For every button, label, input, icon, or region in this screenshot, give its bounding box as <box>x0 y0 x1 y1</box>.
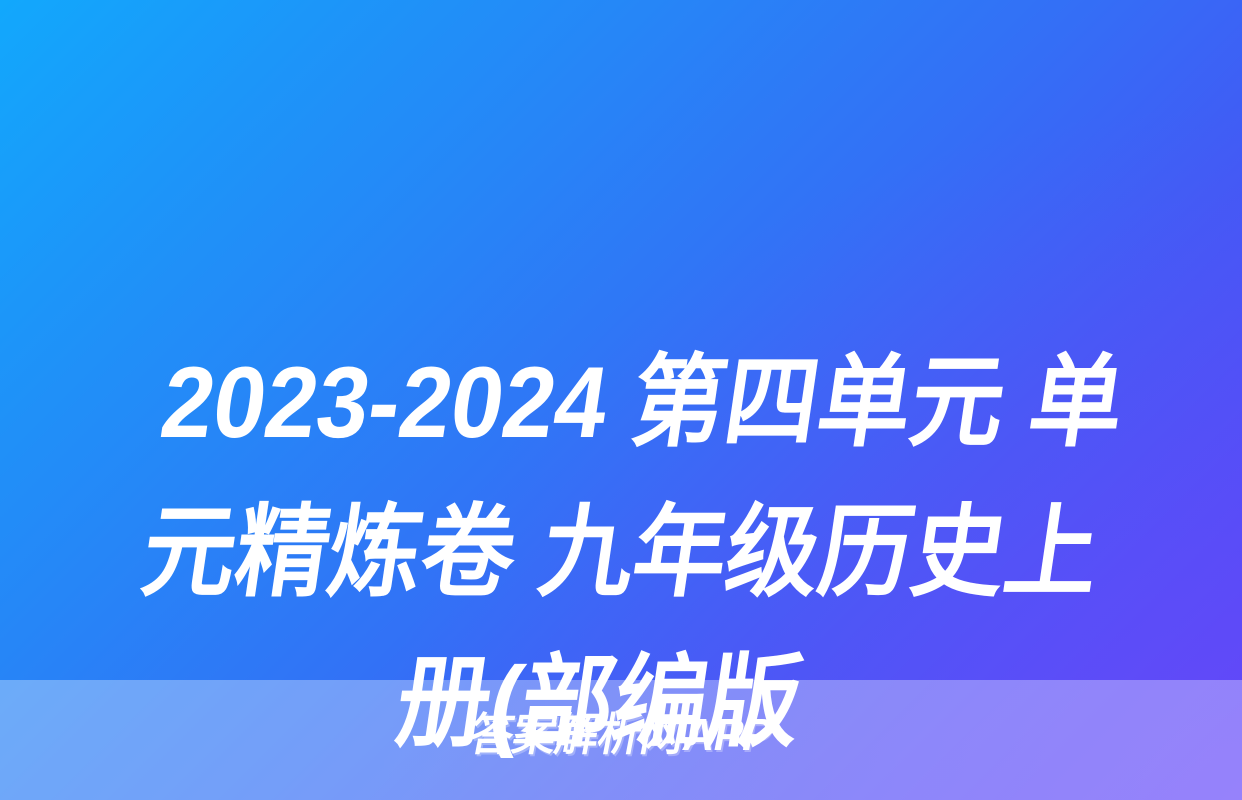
cover-card: 2023-2024 第四单元 单元精炼卷 九年级历史上册(部编版 答案解析网AP… <box>0 0 1242 800</box>
app-watermark-text: 答案解析网APP <box>465 706 777 764</box>
app-watermark: 答案解析网APP <box>0 706 1242 764</box>
page-title: 2023-2024 第四单元 单元精炼卷 九年级历史上册(部编版 <box>101 178 1141 778</box>
